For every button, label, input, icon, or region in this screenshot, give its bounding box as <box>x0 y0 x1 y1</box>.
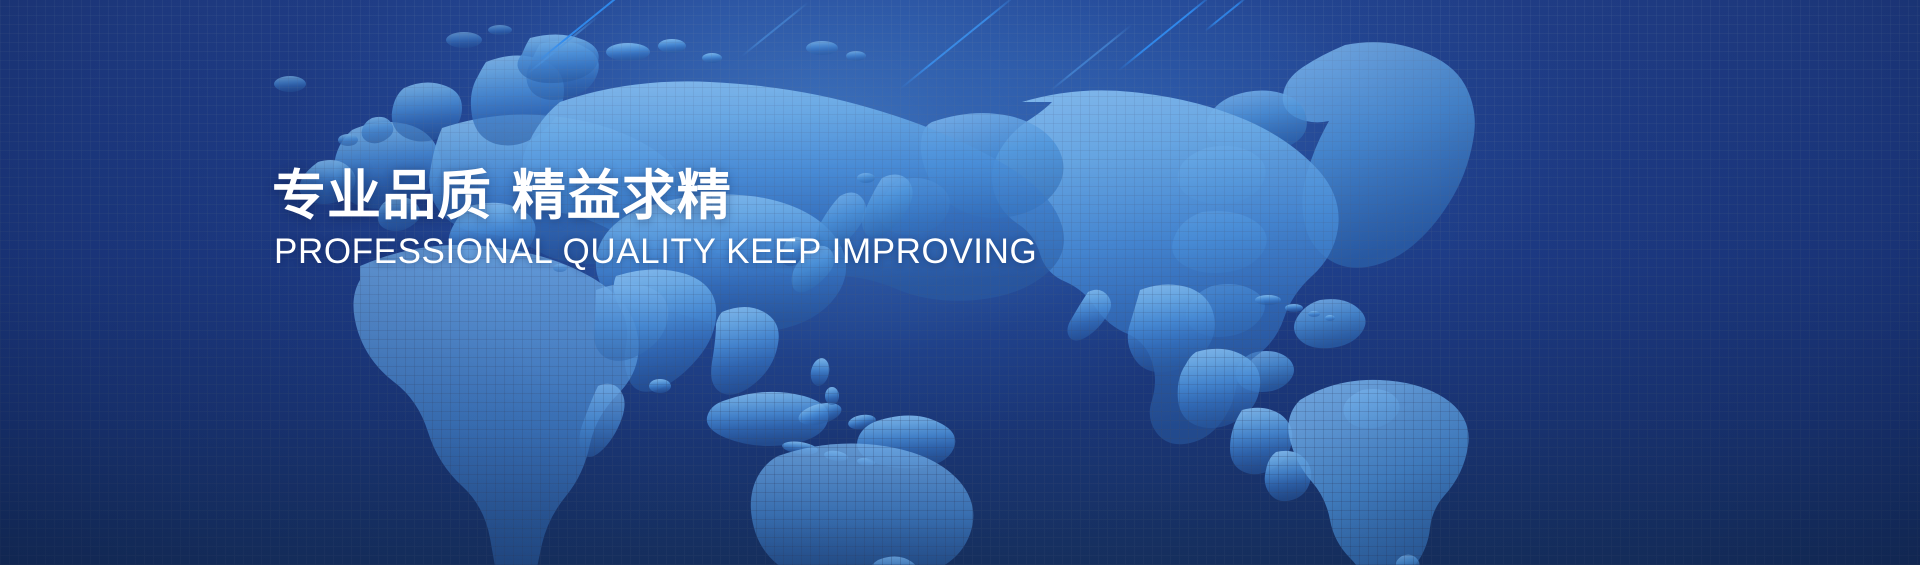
headline-english: PROFESSIONAL QUALITY KEEP IMPROVING <box>274 232 1037 272</box>
banner-copy: 专业品质 精益求精 PROFESSIONAL QUALITY KEEP IMPR… <box>272 166 1037 272</box>
headline-chinese: 专业品质 精益求精 <box>272 166 1037 226</box>
hero-banner: 专业品质 精益求精 PROFESSIONAL QUALITY KEEP IMPR… <box>0 0 1920 565</box>
vignette-overlay <box>0 0 1920 565</box>
